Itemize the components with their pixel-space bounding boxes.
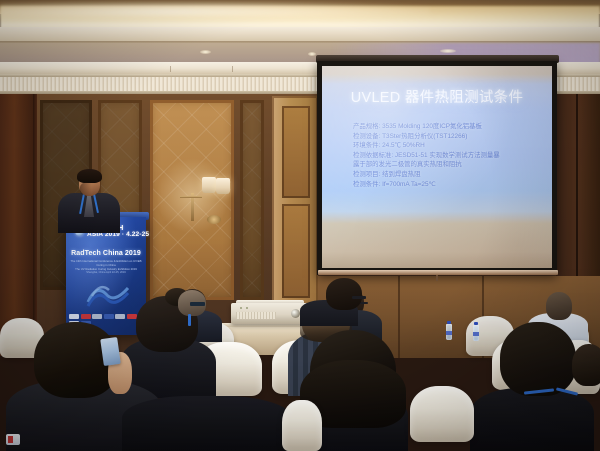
slide-line: 产品规格: 3535 Molding 120度ICP氮化铝基板 bbox=[353, 122, 553, 132]
ceiling-downlight bbox=[440, 49, 456, 53]
sponsor-logo bbox=[69, 314, 79, 319]
chair bbox=[282, 400, 322, 451]
water-bottle-cap bbox=[474, 322, 478, 325]
wall-lower-wood-seam bbox=[398, 276, 400, 358]
attendee-shoulders bbox=[122, 396, 292, 451]
water-bottle-cap bbox=[447, 321, 451, 324]
podium-event-name: RadTech China 2019 bbox=[70, 250, 142, 257]
sponsor-logo bbox=[127, 314, 137, 319]
water-bottle-label bbox=[473, 332, 479, 336]
projection-screen-pull-cord bbox=[436, 275, 438, 281]
sponsor-logo bbox=[92, 314, 102, 319]
speaker-face-shadow bbox=[80, 182, 99, 196]
water-bottle-label bbox=[446, 331, 452, 335]
slide-line: 露于部的发光二极管的真实热阻和阻抗 bbox=[353, 160, 553, 170]
ceiling-cove-light-hotspot bbox=[0, 2, 430, 18]
door-panel bbox=[282, 204, 310, 298]
attendee-head bbox=[326, 278, 362, 310]
wall-fabric-panel bbox=[240, 100, 264, 300]
sconce-backplate bbox=[207, 215, 221, 224]
slide-line: 检测设备: T3Ster热阻分析仪(TST12266) bbox=[353, 132, 553, 142]
slide-title: UVLED 器件热阻测试条件 bbox=[322, 86, 552, 107]
door-panel bbox=[282, 106, 310, 198]
slide-line: 检测项目: 结到焊盘热阻 bbox=[353, 170, 553, 180]
slide-line: 环境条件: 24.5℃ 50%RH bbox=[353, 141, 553, 151]
sconce-shade bbox=[216, 178, 230, 194]
attendee-head bbox=[546, 292, 572, 320]
wall-column-left-edge bbox=[33, 94, 37, 356]
podium-event-date: Shanghai, China April 22-25, 2019 bbox=[70, 271, 142, 274]
slide-body-text: 产品规格: 3535 Molding 120度ICP氮化铝基板 检测设备: T3… bbox=[353, 122, 553, 189]
attendee-sunglasses-icon bbox=[190, 302, 205, 306]
conference-room-photo: UVLED 器件热阻测试条件 产品规格: 3535 Molding 120度IC… bbox=[0, 0, 600, 451]
sponsor-logo bbox=[115, 314, 125, 319]
radtech-swoosh-icon bbox=[86, 282, 130, 308]
projector-vent bbox=[236, 312, 276, 319]
slide-line: 检测条件: If=700mA Ta=25℃ bbox=[353, 180, 553, 190]
podium-event-subtitle: The 13th International Conference & Exhi… bbox=[70, 259, 142, 271]
wall-column-left bbox=[0, 94, 36, 356]
projection-screen-weight-bar bbox=[318, 270, 558, 275]
attendee-badge-mark bbox=[8, 436, 13, 443]
sconce-mount-arm bbox=[180, 196, 202, 198]
slide-line: 检测依据标准: JESD51-51 实现数学测试方法测量暴 bbox=[353, 151, 553, 161]
ceiling-downlight bbox=[200, 50, 211, 54]
sponsor-logo bbox=[104, 314, 114, 319]
projector-status-led bbox=[246, 307, 248, 309]
attendee-head bbox=[572, 344, 600, 386]
ledge-seam bbox=[170, 66, 171, 72]
attendee-head bbox=[500, 322, 576, 396]
attendee-lanyard bbox=[188, 314, 191, 326]
attendee-glasses-icon bbox=[352, 296, 366, 299]
projector-lens-icon bbox=[291, 309, 300, 318]
podium-event-subtitle-line1: The 13th International Conference & Exhi… bbox=[70, 259, 142, 267]
ceiling-downlight bbox=[308, 52, 316, 56]
chair bbox=[410, 386, 474, 442]
sconce-shade bbox=[202, 177, 216, 193]
ledge-seam bbox=[232, 66, 233, 72]
projector-status-led bbox=[240, 307, 242, 309]
sponsor-logo bbox=[81, 314, 91, 319]
smartphone[interactable] bbox=[100, 337, 121, 366]
attendee-shoulders bbox=[470, 388, 594, 451]
speaker-hair bbox=[77, 169, 102, 183]
